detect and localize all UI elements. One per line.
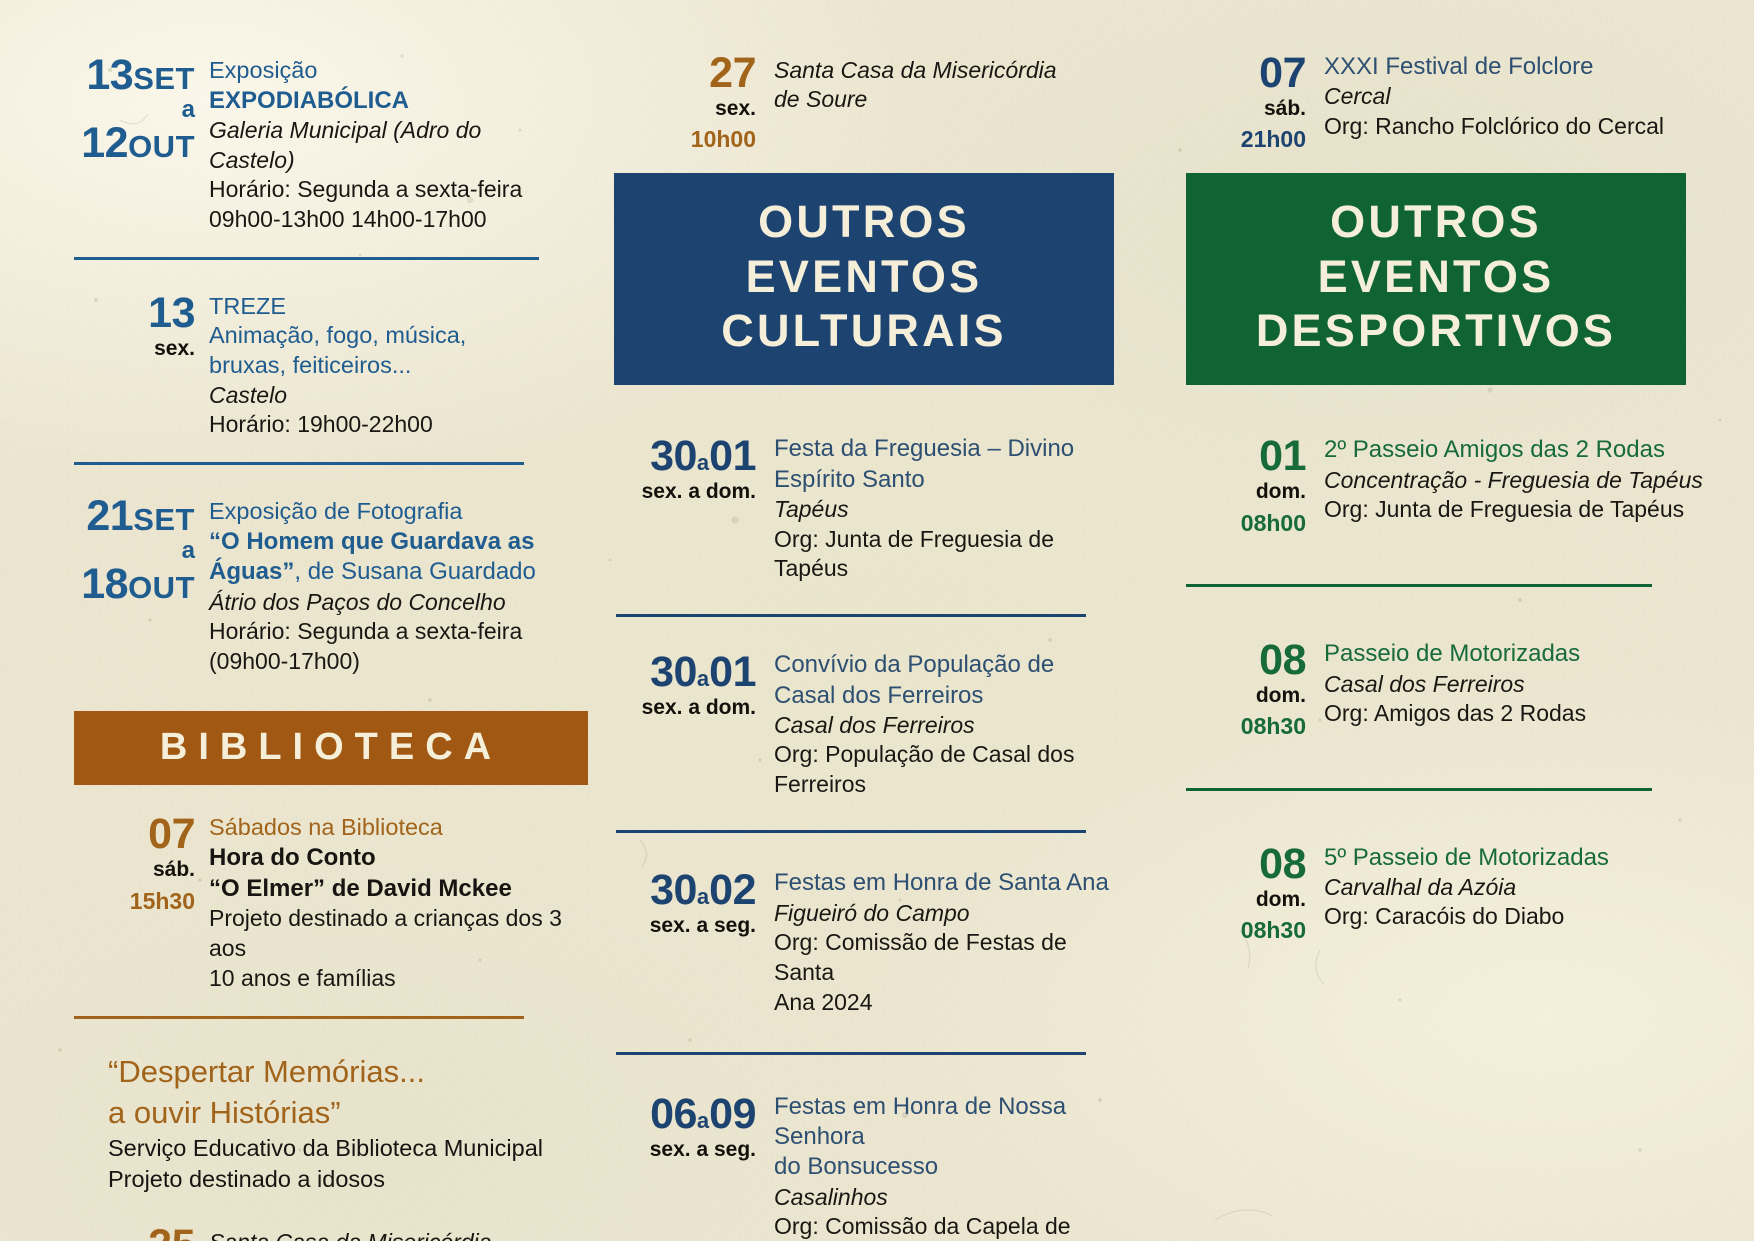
event-schedule: Horário: 19h00-22h00 <box>209 410 568 440</box>
event-venue: Átrio dos Paços do Concelho <box>209 588 568 617</box>
event-category: Exposição <box>209 56 568 86</box>
event-5-passeio-de-motorizadas[interactable]: 08 dom. 08h30 5º Passeio de Motorizadas … <box>1172 841 1722 948</box>
event-venue-line-1: Santa Casa da Misericórdia <box>209 1228 568 1241</box>
section-header-line-2: DESPORTIVOS <box>1208 304 1664 359</box>
divider-rule <box>1186 788 1652 791</box>
date-day: 07 <box>148 835 195 852</box>
date-time: 15h30 <box>52 885 195 918</box>
event-schedule-line-2: 09h00-13h00 14h00-17h00 <box>209 205 568 235</box>
divider-rule <box>616 614 1086 617</box>
event-festas-honra-nossa-senhora-bonsucesso[interactable]: 06a09 sex. a seg. Festas em Honra de Nos… <box>606 1091 1126 1241</box>
event-title-author: , de Susana Guardado <box>294 558 536 585</box>
event-organizer: Org: Junta de Freguesia de Tapéus <box>1324 495 1722 525</box>
event-date-range: 21SET a 18OUT <box>52 493 195 606</box>
event-title: XXXI Festival de Folclore <box>1324 52 1722 82</box>
event-expodiabolica[interactable]: 13SET a 12OUT Exposição EXPODIABÓLICA Ga… <box>52 52 568 235</box>
event-festas-honra-santa-ana[interactable]: 30a02 sex. a seg. Festas em Honra de San… <box>606 867 1126 1017</box>
date-weekday-range: sex. a dom. <box>606 694 756 722</box>
date-weekday-range: sex. a seg. <box>606 912 756 940</box>
event-organizer-line-1: Org: Comissão de Festas de Santa <box>774 928 1126 988</box>
date-weekday: dom. <box>1172 682 1306 710</box>
event-date-range: 13SET a 12OUT <box>52 52 195 165</box>
event-title: 2º Passeio Amigos das 2 Rodas <box>1324 435 1722 465</box>
date-time: 21h00 <box>1172 123 1306 156</box>
event-venue: Carvalhal da Azóia <box>1324 873 1722 902</box>
column-other-sports-events: 07 sáb. 21h00 XXXI Festival de Folclore … <box>1156 28 1722 1231</box>
section-header-biblioteca: BIBLIOTECA <box>74 711 588 785</box>
event-details: Festa da Freguesia – Divino Espírito San… <box>756 433 1126 584</box>
date-range-numbers: 30a01 <box>650 457 756 474</box>
date-day: 01 <box>1259 457 1306 474</box>
event-schedule-line-1: Horário: Segunda a sexta-feira <box>209 175 568 205</box>
event-date: 01 dom. 08h00 <box>1172 433 1306 540</box>
event-venue-line-1: Santa Casa da Misericórdia <box>774 56 1126 85</box>
date-range-numbers: 06a09 <box>650 1115 756 1132</box>
event-2-passeio-amigos-das-2-rodas[interactable]: 01 dom. 08h00 2º Passeio Amigos das 2 Ro… <box>1172 433 1722 540</box>
event-details: Santa Casa da Misericórdia de Soure <box>756 50 1126 114</box>
event-organizer: Org: Rancho Folclórico do Cercal <box>1324 112 1722 142</box>
event-details: 2º Passeio Amigos das 2 Rodas Concentraç… <box>1306 433 1722 525</box>
event-title: 5º Passeio de Motorizadas <box>1324 843 1722 873</box>
divider-rule <box>74 257 539 260</box>
event-passeio-de-motorizadas[interactable]: 08 dom. 08h30 Passeio de Motorizadas Cas… <box>1172 637 1722 744</box>
event-details: Exposição EXPODIABÓLICA Galeria Municipa… <box>195 52 568 235</box>
event-title-line-2: Águas”, de Susana Guardado <box>209 557 568 587</box>
event-details: Convívio da População de Casal dos Ferre… <box>756 649 1126 800</box>
event-date: 13 sex. <box>52 290 195 363</box>
event-venue: Castelo <box>209 381 568 410</box>
date-weekday: sáb. <box>1172 95 1306 123</box>
event-organizer: Org: Amigos das 2 Rodas <box>1324 699 1722 729</box>
divider-rule <box>74 1016 524 1019</box>
date-weekday: dom. <box>1172 886 1306 914</box>
date-day: 27 <box>709 74 756 91</box>
project-title-line-1: “Despertar Memórias... <box>108 1051 568 1092</box>
column-cultural-exhibitions: 13SET a 12OUT Exposição EXPODIABÓLICA Ga… <box>30 28 596 1231</box>
event-title-line-2: Espírito Santo <box>774 465 1126 495</box>
event-venue: Casal dos Ferreiros <box>774 711 1126 740</box>
event-title-line-1: “O Homem que Guardava as <box>209 527 568 557</box>
divider-rule <box>1186 584 1652 587</box>
event-description-line-1: Animação, fogo, música, <box>209 321 568 351</box>
event-title-line-1: Festas em Honra de Nossa Senhora <box>774 1092 1126 1153</box>
event-date: 08 dom. 08h30 <box>1172 637 1306 744</box>
event-venue: Figueiró do Campo <box>774 899 1126 928</box>
event-date: 07 sáb. 15h30 <box>52 811 195 918</box>
event-date-range: 30a02 sex. a seg. <box>606 867 756 940</box>
event-santa-casa-misericordia-soure-25[interactable]: 25 qua. 10h00 Santa Casa da Misericórdia… <box>52 1222 568 1241</box>
event-description-line-2: bruxas, feiticeiros... <box>209 351 568 381</box>
project-despertar-memorias[interactable]: “Despertar Memórias... a ouvir Histórias… <box>52 1051 568 1195</box>
event-date-range: 06a09 sex. a seg. <box>606 1091 756 1164</box>
date-day: 07 <box>1259 74 1306 91</box>
event-details: Festas em Honra de Nossa Senhora do Bons… <box>756 1091 1126 1241</box>
date-time: 08h30 <box>1172 710 1306 743</box>
event-organizer-line-2: Ana 2024 <box>774 988 1126 1018</box>
event-subtitle: “O Elmer” de David Mckee <box>209 874 568 904</box>
event-convivio-casal-dos-ferreiros[interactable]: 30a01 sex. a dom. Convívio da População … <box>606 649 1126 800</box>
event-venue-line-2: de Soure <box>774 85 1126 114</box>
event-santa-casa-misericordia-soure-27[interactable]: 27 sex. 10h00 Santa Casa da Misericórdia… <box>606 50 1126 157</box>
event-audience-line-1: Projeto destinado a crianças dos 3 aos <box>209 904 568 964</box>
divider-rule <box>74 462 524 465</box>
event-details: Exposição de Fotografia “O Homem que Gua… <box>195 493 568 677</box>
event-calendar-poster: 13SET a 12OUT Exposição EXPODIABÓLICA Ga… <box>0 0 1754 1241</box>
date-time: 08h00 <box>1172 507 1306 540</box>
event-organizer: Org: Caracóis do Diabo <box>1324 902 1722 932</box>
date-day: 08 <box>1259 661 1306 678</box>
date-day: 08 <box>1259 865 1306 882</box>
event-details: Sábados na Biblioteca Hora do Conto “O E… <box>195 811 568 993</box>
event-schedule-line-1: Horário: Segunda a sexta-feira <box>209 617 568 647</box>
date-weekday-range: sex. a seg. <box>606 1136 756 1164</box>
event-title: Hora do Conto <box>209 843 568 873</box>
event-venue: Casalinhos <box>774 1183 1126 1212</box>
event-title-line-1: Convívio da População de <box>774 650 1126 680</box>
event-details: TREZE Animação, fogo, música, bruxas, fe… <box>195 290 568 441</box>
date-weekday: sex. <box>606 95 756 123</box>
event-category: Exposição de Fotografia <box>209 497 568 527</box>
event-title-line-2: Casal dos Ferreiros <box>774 681 1126 711</box>
date-weekday: sex. <box>52 335 195 363</box>
event-details: 5º Passeio de Motorizadas Carvalhal da A… <box>1306 841 1722 933</box>
date-weekday: dom. <box>1172 478 1306 506</box>
event-title: EXPODIABÓLICA <box>209 86 568 116</box>
column-other-cultural-events: 27 sex. 10h00 Santa Casa da Misericórdia… <box>596 28 1156 1231</box>
event-date: 27 sex. 10h00 <box>606 50 756 157</box>
event-venue: Concentração - Freguesia de Tapéus <box>1324 466 1722 495</box>
event-date-range: 30a01 sex. a dom. <box>606 649 756 722</box>
event-details: Passeio de Motorizadas Casal dos Ferreir… <box>1306 637 1722 729</box>
event-xxxi-festival-de-folclore[interactable]: 07 sáb. 21h00 XXXI Festival de Folclore … <box>1172 50 1722 157</box>
event-venue: Casal dos Ferreiros <box>1324 670 1722 699</box>
event-details: XXXI Festival de Folclore Cercal Org: Ra… <box>1306 50 1722 142</box>
event-sabados-na-biblioteca[interactable]: 07 sáb. 15h30 Sábados na Biblioteca Hora… <box>52 811 568 993</box>
project-title-line-2: a ouvir Histórias” <box>108 1092 568 1133</box>
event-date: 25 qua. 10h00 <box>52 1222 195 1241</box>
event-organizer: Org: População de Casal dos Ferreiros <box>774 740 1126 800</box>
event-treze[interactable]: 13 sex. TREZE Animação, fogo, música, br… <box>52 290 568 441</box>
event-exposicao-fotografia[interactable]: 21SET a 18OUT Exposição de Fotografia “O… <box>52 493 568 677</box>
project-audience: Projeto destinado a idosos <box>108 1164 568 1195</box>
event-title-line-2: do Bonsucesso <box>774 1152 1126 1182</box>
event-audience-line-2: 10 anos e famílias <box>209 964 568 994</box>
event-title-emphasis: Águas” <box>209 558 294 585</box>
event-title: Festas em Honra de Santa Ana <box>774 868 1126 898</box>
divider-rule <box>616 1052 1086 1055</box>
section-header-line-2: CULTURAIS <box>636 304 1092 359</box>
date-time: 08h30 <box>1172 914 1306 947</box>
event-date: 07 sáb. 21h00 <box>1172 50 1306 157</box>
date-weekday-range: sex. a dom. <box>606 478 756 506</box>
event-details: Santa Casa da Misericórdia de Soure <box>195 1222 568 1241</box>
event-date: 08 dom. 08h30 <box>1172 841 1306 948</box>
section-header-line-1: OUTROS EVENTOS <box>1208 195 1664 305</box>
date-range-numbers: 30a01 <box>650 673 756 690</box>
date-to: 12OUT <box>52 122 195 165</box>
event-title: Passeio de Motorizadas <box>1324 639 1722 669</box>
section-header-outros-eventos-desportivos: OUTROS EVENTOS DESPORTIVOS <box>1186 173 1686 386</box>
event-schedule-line-2: (09h00-17h00) <box>209 647 568 677</box>
date-range-numbers: 30a02 <box>650 891 756 908</box>
project-organizer: Serviço Educativo da Biblioteca Municipa… <box>108 1133 568 1164</box>
event-venue: Galeria Municipal (Adro do Castelo) <box>209 116 568 174</box>
date-time: 10h00 <box>606 123 756 156</box>
date-to: 18OUT <box>52 563 195 606</box>
event-details: Festas em Honra de Santa Ana Figueiró do… <box>756 867 1126 1017</box>
event-festa-da-freguesia-divino-espirito-santo[interactable]: 30a01 sex. a dom. Festa da Freguesia – D… <box>606 433 1126 584</box>
section-header-outros-eventos-culturais: OUTROS EVENTOS CULTURAIS <box>614 173 1114 386</box>
date-weekday: sáb. <box>52 856 195 884</box>
date-from: 21SET <box>52 495 195 538</box>
section-header-line-1: OUTROS EVENTOS <box>636 195 1092 305</box>
event-organizer: Org: Junta de Freguesia de Tapéus <box>774 525 1126 585</box>
event-title-line-1: Festa da Freguesia – Divino <box>774 434 1126 464</box>
event-venue: Cercal <box>1324 82 1722 111</box>
event-series-name: Sábados na Biblioteca <box>209 813 568 843</box>
event-organizer: Org: Comissão da Capela de Casalinhos <box>774 1212 1126 1241</box>
date-from: 13SET <box>52 54 195 97</box>
divider-rule <box>616 830 1086 833</box>
event-title: TREZE <box>209 292 568 322</box>
event-venue: Tapéus <box>774 495 1126 524</box>
event-date-range: 30a01 sex. a dom. <box>606 433 756 506</box>
date-day: 13 <box>148 314 195 331</box>
